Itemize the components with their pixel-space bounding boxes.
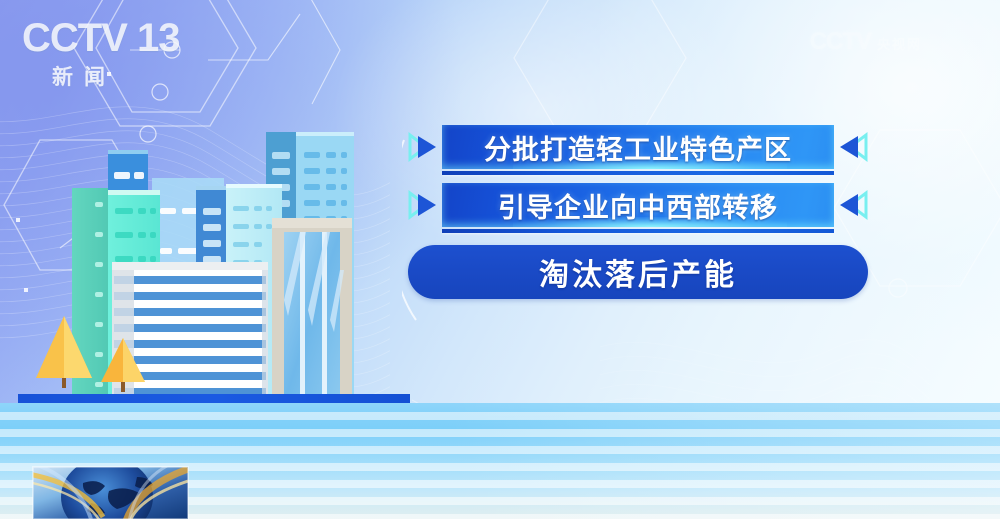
channel-name-cn: 新闻 <box>52 61 182 91</box>
headline-text-3: 淘汰落后产能 <box>539 250 737 294</box>
watermark-main: CCTV <box>810 28 871 56</box>
headline-bar-1[interactable]: 分批打造轻工业特色产区 <box>442 125 834 169</box>
headline-bar-2[interactable]: 引导企业向中西部转移 <box>442 183 834 227</box>
play-triangle-right-icon <box>408 190 442 220</box>
play-triangle-right-icon <box>408 132 442 162</box>
channel-logo: CCTV 13 新闻 <box>22 18 182 90</box>
headline-pill-3[interactable]: 淘汰落后产能 <box>408 245 868 299</box>
channel-logo-text: CCTV 13 <box>22 18 182 58</box>
ground-bar <box>18 394 410 403</box>
building-glass-tower <box>272 218 352 403</box>
watermark: CCTV 央视网 <box>810 28 922 56</box>
headline-banner-3[interactable]: 淘汰落后产能 <box>408 244 868 300</box>
headline-banner-group: 分批打造轻工业特色产区 引导企业向中西部转移 <box>408 124 868 300</box>
channel-logo-cctv: CCTV <box>22 16 127 60</box>
horizon-glow <box>0 403 1000 429</box>
play-triangle-left-icon <box>834 132 868 162</box>
channel-logo-number: 13 <box>137 16 180 60</box>
building-blue-slab <box>108 150 148 192</box>
watermark-cn: 央视网 <box>877 34 922 53</box>
headline-banner-1[interactable]: 分批打造轻工业特色产区 <box>408 124 868 170</box>
broadcast-screen: CCTV 13 新闻 CCTV 央视网 <box>0 0 1000 519</box>
headline-text-1: 分批打造轻工业特色产区 <box>484 128 792 167</box>
city-skyline-illustration <box>0 120 420 405</box>
globe-news-thumbnail[interactable] <box>33 467 188 519</box>
headline-banner-2[interactable]: 引导企业向中西部转移 <box>408 182 868 228</box>
headline-text-2: 引导企业向中西部转移 <box>498 186 778 225</box>
play-triangle-left-icon <box>834 190 868 220</box>
